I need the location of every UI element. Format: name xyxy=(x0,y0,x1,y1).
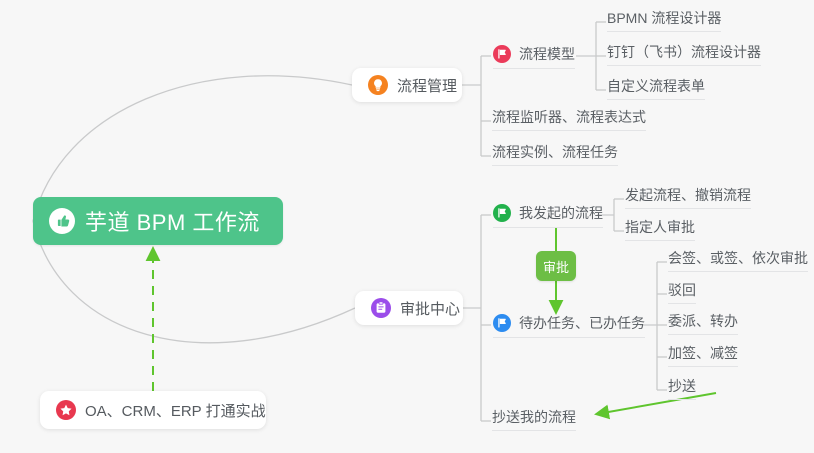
leaf-countersign[interactable]: 会签、或签、依次审批 xyxy=(668,251,808,272)
leaf-reject[interactable]: 驳回 xyxy=(668,283,696,304)
floating-label-integration: OA、CRM、ERP 打通实战 xyxy=(85,400,266,421)
thumbs-up-icon xyxy=(49,208,75,234)
flag-icon xyxy=(493,314,511,332)
flag-icon xyxy=(493,45,511,63)
branch-node-process-management[interactable]: 流程管理 xyxy=(352,68,462,102)
leaf-process-listener[interactable]: 流程监听器、流程表达式 xyxy=(492,110,646,131)
node-label-process-model: 流程模型 xyxy=(519,47,575,62)
leaf-start-cancel-process[interactable]: 发起流程、撤销流程 xyxy=(625,188,751,209)
node-process-model[interactable]: 流程模型 xyxy=(493,45,575,69)
branch-label-process-management: 流程管理 xyxy=(397,75,457,96)
leaf-assignee-approval[interactable]: 指定人审批 xyxy=(625,220,695,241)
leaf-cc-to-me[interactable]: 抄送我的流程 xyxy=(492,410,576,431)
annotation-tag-approve: 审批 xyxy=(536,251,576,281)
leaf-dingtalk-designer[interactable]: 钉钉（飞书）流程设计器 xyxy=(607,45,761,66)
leaf-add-remove-sign[interactable]: 加签、减签 xyxy=(668,346,738,367)
mindmap-canvas: 芋道 BPM 工作流 流程管理 审批中心 xyxy=(0,0,814,453)
branch-label-approval-center: 审批中心 xyxy=(400,298,460,319)
node-label-todo-done-tasks: 待办任务、已办任务 xyxy=(519,316,645,331)
star-icon xyxy=(56,400,76,420)
branch-node-approval-center[interactable]: 审批中心 xyxy=(355,291,463,325)
root-label: 芋道 BPM 工作流 xyxy=(85,205,260,237)
node-label-my-initiated: 我发起的流程 xyxy=(519,206,603,221)
root-node[interactable]: 芋道 BPM 工作流 xyxy=(33,197,283,245)
clipboard-icon xyxy=(371,298,391,318)
lightbulb-icon xyxy=(368,75,388,95)
leaf-custom-form[interactable]: 自定义流程表单 xyxy=(607,79,705,100)
leaf-delegate-transfer[interactable]: 委派、转办 xyxy=(668,314,738,335)
leaf-cc[interactable]: 抄送 xyxy=(668,379,696,400)
flag-icon xyxy=(493,204,511,222)
leaf-bpmn-designer[interactable]: BPMN 流程设计器 xyxy=(607,11,721,32)
node-my-initiated[interactable]: 我发起的流程 xyxy=(493,204,603,228)
floating-node-integration[interactable]: OA、CRM、ERP 打通实战 xyxy=(40,391,266,429)
arrow-cc-to-cc-my-process xyxy=(597,393,716,414)
node-todo-done-tasks[interactable]: 待办任务、已办任务 xyxy=(493,314,645,338)
leaf-process-instance[interactable]: 流程实例、流程任务 xyxy=(492,145,618,166)
